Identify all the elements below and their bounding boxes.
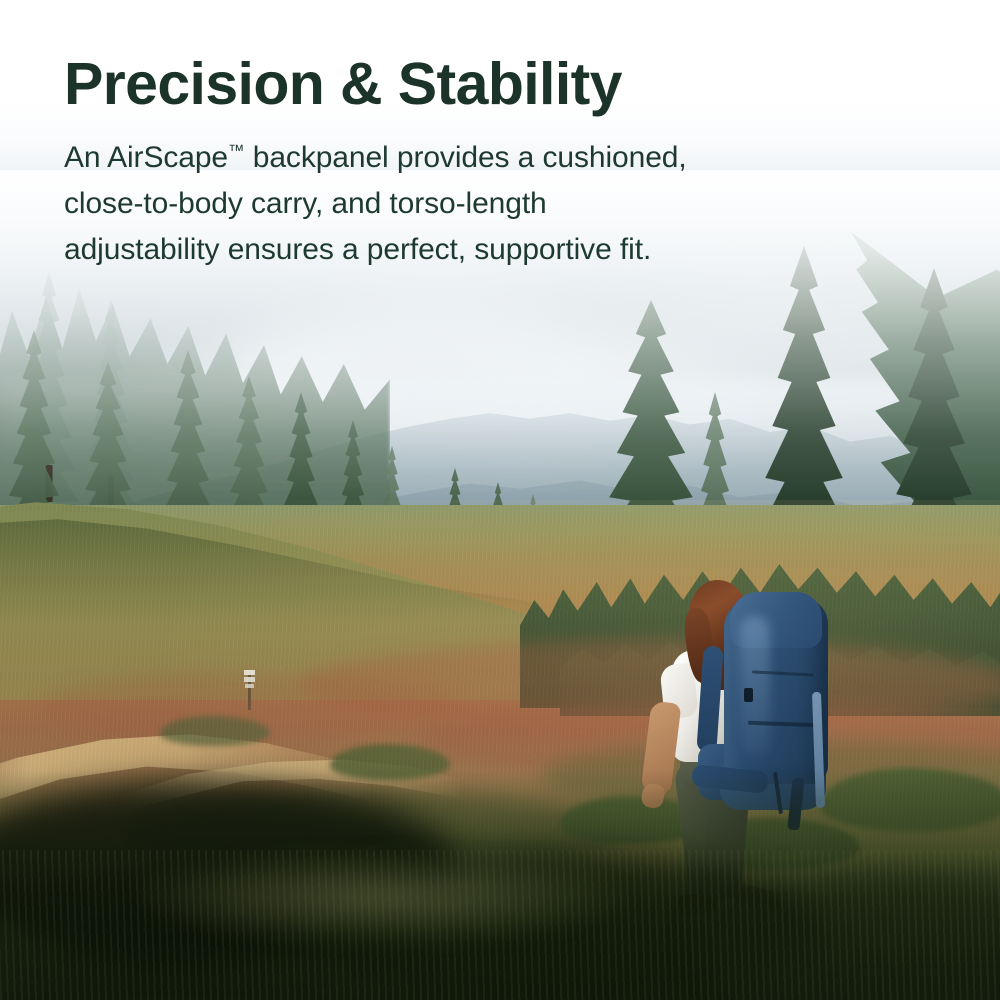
description-line-1-suffix: backpanel provides a cushioned, [245, 141, 687, 174]
foreground-grass [0, 770, 1000, 1000]
trademark-symbol: ™ [228, 142, 245, 160]
feature-description: An AirScape™ backpanel provides a cushio… [64, 135, 894, 273]
foreground-grass-blades [0, 850, 1000, 1000]
feature-card: Precision & Stability An AirScape™ backp… [0, 0, 1000, 1000]
description-line-3: adjustability ensures a perfect, support… [64, 227, 894, 273]
backpack-buckle [744, 688, 753, 702]
description-line-1-prefix: An AirScape [64, 141, 228, 174]
description-line-2: close-to-body carry, and torso-length [64, 181, 894, 227]
page-title: Precision & Stability [64, 55, 944, 114]
backpack-highlight [740, 616, 770, 756]
copy-block: Precision & Stability An AirScape™ backp… [64, 55, 944, 273]
description-line-1: An AirScape™ backpanel provides a cushio… [64, 135, 894, 181]
